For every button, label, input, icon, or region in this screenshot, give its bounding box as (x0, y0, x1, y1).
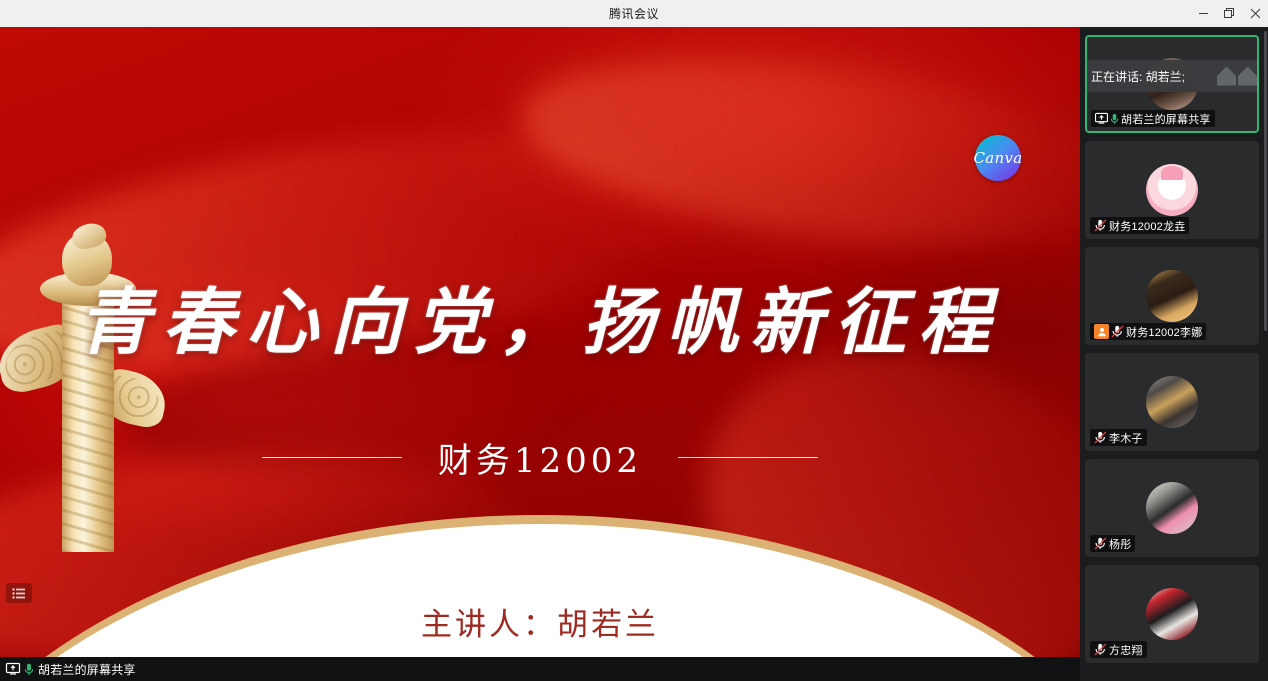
microphone-muted-icon (1111, 325, 1124, 338)
microphone-icon (24, 663, 34, 676)
avatar (1146, 482, 1198, 534)
window-titlebar: 腾讯会议 (0, 0, 1268, 27)
participant-name: 财务12002龙垚 (1109, 218, 1185, 234)
speaking-toast: 正在讲话: 胡若兰; (1085, 60, 1259, 92)
close-icon (1250, 8, 1261, 19)
participant-name-chip: 李木子 (1090, 429, 1147, 446)
canva-logo-text: Canva (974, 149, 1023, 167)
meeting-window-body: 青春心向党，扬帆新征程 财务12002 主讲人：胡若兰 Canva (0, 27, 1268, 681)
screen-share-status-bar: 胡若兰的屏幕共享 (0, 657, 1080, 681)
slide-main-title: 青春心向党，扬帆新征程 (0, 263, 1080, 368)
participant-name: 方忠翔 (1109, 642, 1143, 658)
subtitle-rule-right (678, 457, 818, 458)
participant-tile[interactable]: 杨彤 (1085, 459, 1259, 557)
person-icon (1097, 327, 1107, 337)
minimize-button[interactable] (1190, 0, 1216, 27)
participant-tile-active-speaker[interactable]: 胡若兰的屏幕共享 正在讲话: 胡若兰; (1085, 35, 1259, 133)
canva-logo: Canva (975, 135, 1021, 181)
participant-name: 胡若兰的屏幕共享 (1121, 111, 1211, 127)
microphone-muted-icon (1094, 643, 1107, 656)
slide-subtitle: 财务12002 (438, 433, 642, 482)
avatar (1146, 270, 1198, 322)
speaking-toast-text: 正在讲话: 胡若兰; (1091, 68, 1185, 85)
avatar (1146, 588, 1198, 640)
slide-presenter: 主讲人：胡若兰 (0, 599, 1080, 644)
participant-name: 财务12002李娜 (1126, 324, 1202, 340)
participant-name-chip: 财务12002李娜 (1090, 323, 1206, 340)
avatar (1146, 164, 1198, 216)
microphone-muted-icon (1094, 537, 1107, 550)
slide-subtitle-row: 财务12002 (0, 433, 1080, 482)
participant-tile[interactable]: 李木子 (1085, 353, 1259, 451)
list-menu-icon (12, 588, 26, 599)
restore-button[interactable] (1216, 0, 1242, 27)
participant-tile[interactable]: 方忠翔 (1085, 565, 1259, 663)
participant-tile[interactable]: 财务12002李娜 (1085, 247, 1259, 345)
window-title: 腾讯会议 (609, 5, 659, 22)
restore-icon (1224, 8, 1235, 19)
sidebar-scrollbar-thumb[interactable] (1264, 31, 1267, 331)
participant-name-chip: 胡若兰的屏幕共享 (1091, 110, 1215, 127)
participant-name-chip: 财务12002龙垚 (1090, 217, 1189, 234)
microphone-icon (1110, 113, 1119, 125)
screen-share-icon (6, 663, 20, 675)
shared-screen-area[interactable]: 青春心向党，扬帆新征程 财务12002 主讲人：胡若兰 Canva (0, 27, 1080, 681)
screen-share-icon (1095, 113, 1108, 124)
subtitle-rule-left (262, 457, 402, 458)
avatar (1146, 376, 1198, 428)
screen-share-status-text: 胡若兰的屏幕共享 (38, 661, 136, 678)
window-controls (1190, 0, 1268, 27)
participant-name: 杨彤 (1109, 536, 1131, 552)
close-button[interactable] (1242, 0, 1268, 27)
participant-name-chip: 方忠翔 (1090, 641, 1147, 658)
participant-sidebar[interactable]: 胡若兰的屏幕共享 正在讲话: 胡若兰; (1080, 27, 1268, 681)
microphone-muted-icon (1094, 431, 1107, 444)
screen-share-status-chip: 胡若兰的屏幕共享 (0, 657, 142, 681)
sidebar-scrollbar[interactable] (1263, 27, 1268, 681)
microphone-muted-icon (1094, 219, 1107, 232)
minimize-icon (1198, 8, 1209, 19)
host-badge (1094, 324, 1109, 339)
participant-name: 李木子 (1109, 430, 1143, 446)
participant-tile[interactable]: 财务12002龙垚 (1085, 141, 1259, 239)
slide-menu-button[interactable] (6, 583, 32, 603)
chevrons-icon[interactable] (1217, 67, 1257, 86)
participant-name-chip: 杨彤 (1090, 535, 1135, 552)
presentation-slide[interactable]: 青春心向党，扬帆新征程 财务12002 主讲人：胡若兰 Canva (0, 27, 1080, 657)
